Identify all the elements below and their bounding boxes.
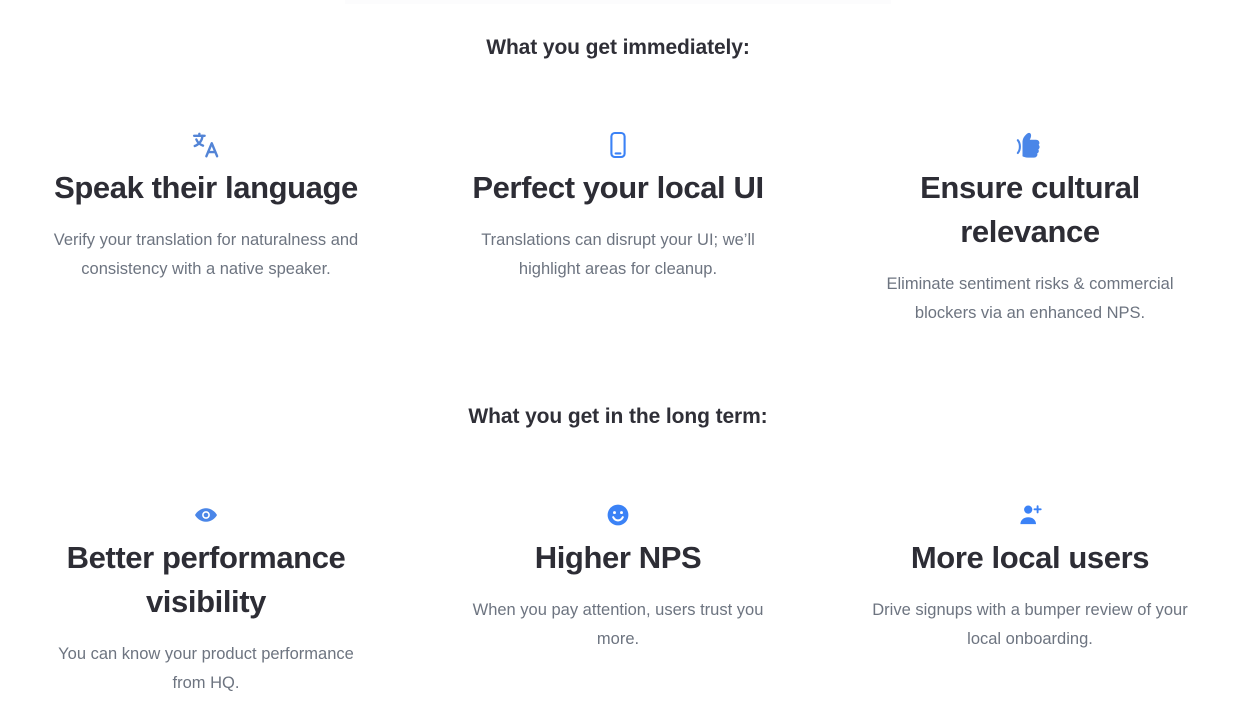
- card-description: Drive signups with a bumper review of yo…: [865, 596, 1195, 654]
- mobile-phone-icon: [432, 128, 804, 162]
- card-description: Eliminate sentiment risks & commercial b…: [858, 270, 1203, 328]
- card-title: Higher NPS: [432, 536, 804, 580]
- benefit-card-ensure-cultural-relevance: Ensure cultural relevance Eliminate sent…: [824, 128, 1236, 328]
- smiley-face-icon: [432, 498, 804, 532]
- card-description: When you pay attention, users trust you …: [453, 596, 783, 654]
- section-heading-immediate: What you get immediately:: [0, 36, 1236, 60]
- benefit-card-better-performance-visibility: Better performance visibility You can kn…: [0, 498, 412, 698]
- card-title: Ensure cultural relevance: [844, 166, 1216, 254]
- benefits-page: What you get immediately: Speak their la…: [0, 0, 1236, 721]
- thumbs-up-icon: [844, 128, 1216, 162]
- benefit-row-long-term: Better performance visibility You can kn…: [0, 498, 1236, 698]
- card-description: Verify your translation for naturalness …: [41, 226, 371, 284]
- card-title: More local users: [844, 536, 1216, 580]
- translate-icon: [20, 128, 392, 162]
- card-title: Perfect your local UI: [432, 166, 804, 210]
- top-edge-band: [345, 0, 891, 4]
- benefit-card-perfect-your-local-ui: Perfect your local UI Translations can d…: [412, 128, 824, 284]
- card-title: Speak their language: [20, 166, 392, 210]
- eye-icon: [20, 498, 392, 532]
- benefit-row-immediate: Speak their language Verify your transla…: [0, 128, 1236, 328]
- card-description: You can know your product performance fr…: [41, 640, 371, 698]
- benefit-card-higher-nps: Higher NPS When you pay attention, users…: [412, 498, 824, 654]
- benefit-card-speak-their-language: Speak their language Verify your transla…: [0, 128, 412, 284]
- benefit-card-more-local-users: More local users Drive signups with a bu…: [824, 498, 1236, 654]
- card-title: Better performance visibility: [20, 536, 392, 624]
- section-heading-long-term: What you get in the long term:: [0, 405, 1236, 429]
- card-description: Translations can disrupt your UI; we’ll …: [453, 226, 783, 284]
- add-user-icon: [844, 498, 1216, 532]
